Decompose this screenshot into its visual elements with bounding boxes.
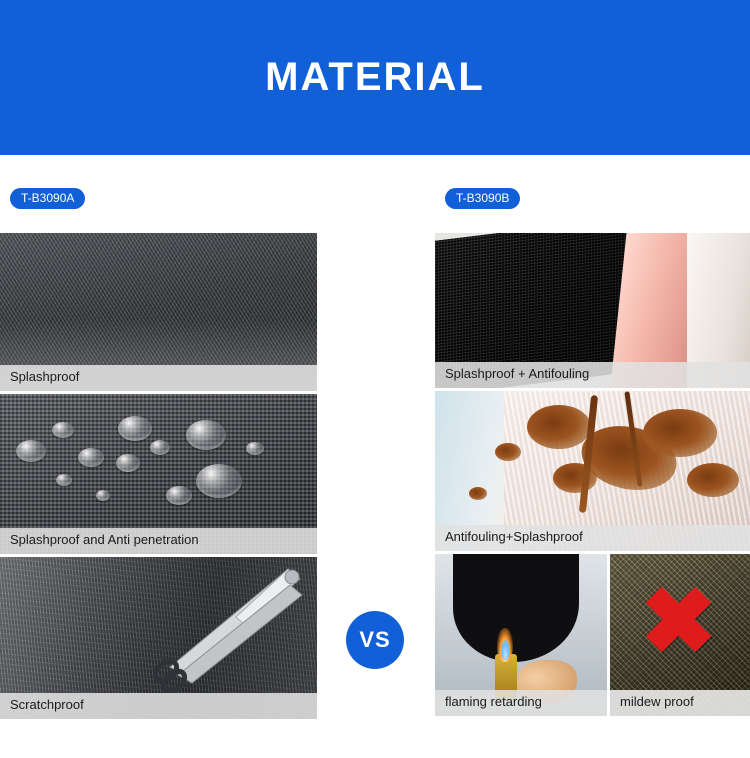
header-banner: MATERIAL [0, 0, 750, 155]
water-drop [96, 490, 110, 501]
water-drop [166, 486, 192, 505]
left-panel-list: Splashproof Splashproof and Anti penetra… [0, 233, 317, 722]
water-drop [196, 464, 242, 498]
right-panel-caption-1: Splashproof + Antifouling [435, 362, 750, 388]
right-panel-pair: flaming retarding ✖ mildew proof [435, 554, 750, 716]
water-drop [246, 442, 264, 455]
water-drop [16, 440, 46, 462]
water-drop [78, 448, 104, 467]
right-panel-antifouling-splashproof: Antifouling+Splashproof [435, 391, 750, 551]
coffee-stain [469, 487, 487, 500]
coffee-stain [643, 409, 717, 457]
vs-badge: VS [346, 611, 404, 669]
comparison-content: T-B3090A Splashproof [0, 155, 750, 758]
left-panel-caption-1: Splashproof [0, 365, 317, 391]
right-product-tag: T-B3090B [445, 188, 520, 209]
left-product-column: T-B3090A Splashproof [0, 155, 317, 209]
water-drop [52, 422, 74, 438]
left-panel-caption-3: Scratchproof [0, 693, 317, 719]
right-product-column: T-B3090B Splashproof + Antifouling [435, 155, 750, 209]
water-drop [116, 454, 140, 472]
coffee-stain [687, 463, 739, 497]
coffee-stain [527, 405, 591, 449]
page-title: MATERIAL [265, 55, 485, 100]
water-drop [186, 420, 226, 450]
right-panel-caption-3: flaming retarding [435, 690, 607, 716]
left-panel-scratchproof: Scratchproof [0, 557, 317, 719]
right-panel-caption-2: Antifouling+Splashproof [435, 525, 750, 551]
red-x-mark-icon: ✖ [640, 576, 717, 668]
water-drop [150, 440, 170, 455]
flame-blue-core [501, 640, 510, 660]
right-panel-splashproof-antifouling: Splashproof + Antifouling [435, 233, 750, 388]
right-panel-flaming-retarding: flaming retarding [435, 554, 607, 716]
left-panel-caption-2: Splashproof and Anti penetration [0, 528, 317, 554]
water-drop [56, 474, 72, 486]
right-panel-mildew-proof: ✖ mildew proof [610, 554, 750, 716]
right-panel-caption-4: mildew proof [610, 690, 750, 716]
left-panel-antipenetration: Splashproof and Anti penetration [0, 394, 317, 554]
coffee-stain [495, 443, 521, 461]
left-product-tag: T-B3090A [10, 188, 85, 209]
right-panel-list: Splashproof + Antifouling Antifouling+Sp… [435, 233, 750, 716]
water-drop [118, 416, 152, 441]
left-panel-splashproof: Splashproof [0, 233, 317, 391]
